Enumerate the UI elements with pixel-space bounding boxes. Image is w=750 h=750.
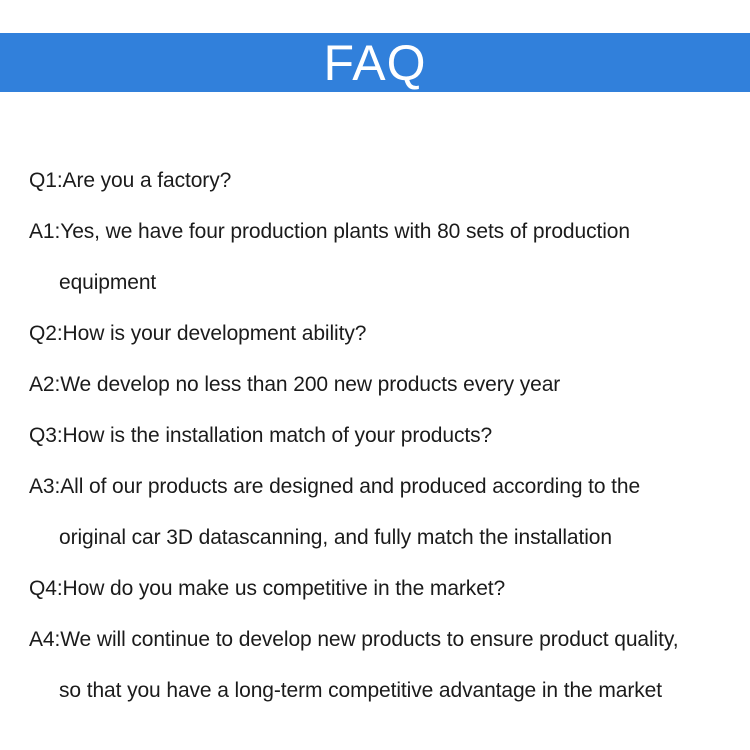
faq-line: A1:Yes, we have four production plants w… [29, 206, 630, 257]
faq-line-continuation: equipment [59, 257, 156, 308]
faq-line-continuation: original car 3D datascanning, and fully … [59, 512, 612, 563]
faq-line: A3:All of our products are designed and … [29, 461, 640, 512]
faq-line: A2:We develop no less than 200 new produ… [29, 359, 560, 410]
faq-line: Q3:How is the installation match of your… [29, 410, 492, 461]
faq-line: Q1:Are you a factory? [29, 155, 231, 206]
faq-line: A4:We will continue to develop new produ… [29, 614, 678, 665]
page-title: FAQ [323, 38, 426, 88]
faq-line: Q4:How do you make us competitive in the… [29, 563, 505, 614]
faq-page: FAQ Q1:Are you a factory?A1:Yes, we have… [0, 0, 750, 750]
faq-line: Q2:How is your development ability? [29, 308, 366, 359]
faq-line-continuation: so that you have a long-term competitive… [59, 665, 662, 716]
faq-header-banner: FAQ [0, 33, 750, 92]
